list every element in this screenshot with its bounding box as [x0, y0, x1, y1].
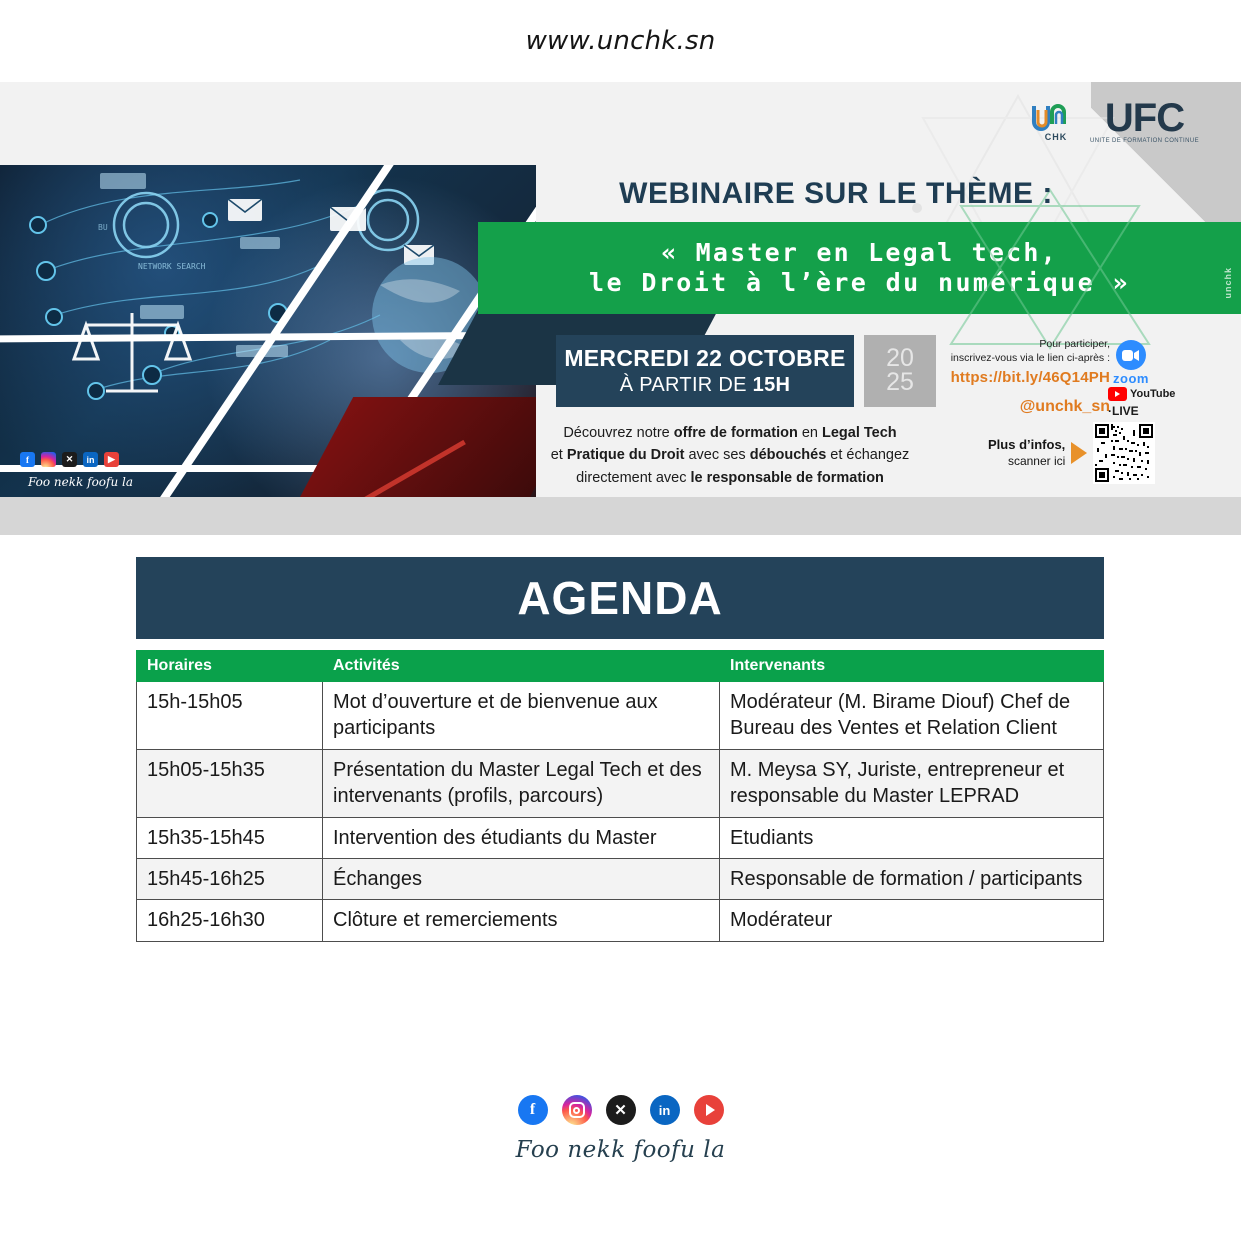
agenda-table: Horaires Activités Intervenants 15h-15h0…	[136, 650, 1104, 942]
registration-link[interactable]: https://bit.ly/46Q14PH	[930, 369, 1110, 386]
scales-of-justice-icon	[72, 305, 192, 400]
svg-text:BU: BU	[98, 223, 108, 232]
desc-3a: directement avec	[576, 470, 690, 486]
desc-1a: Découvrez notre	[563, 425, 673, 441]
x-twitter-icon: ✕	[62, 452, 77, 467]
zoom-badge: zoom	[1113, 340, 1149, 386]
agenda-header: AGENDA	[136, 557, 1104, 639]
ufc-logo-subtitle: UNITE DE FORMATION CONTINUE	[1090, 138, 1199, 144]
cell-horaires: 15h45-16h25	[137, 858, 323, 899]
facebook-icon: f	[20, 452, 35, 467]
desc-2e: et échangez	[826, 447, 909, 463]
participation-info: Pour participer, inscrivez-vous via le l…	[930, 337, 1110, 416]
instagram-glyph	[569, 1102, 585, 1118]
theme-line-1: « Master en Legal tech,	[661, 238, 1058, 269]
description-line-1: Découvrez notre offre de formation en Le…	[500, 422, 960, 444]
hero-tagline: Foo nekk foofu la	[28, 475, 133, 489]
cell-intervenants: Responsable de formation / participants	[720, 858, 1104, 899]
youtube-play-glyph	[706, 1104, 715, 1116]
event-time-value: 15H	[753, 374, 791, 396]
website-url: www.unchk.sn	[526, 26, 716, 56]
cell-horaires: 15h05-15h35	[137, 749, 323, 817]
social-handle[interactable]: @unchk_sn	[930, 398, 1110, 416]
column-header-intervenants: Intervenants	[720, 651, 1104, 682]
desc-2d: débouchés	[750, 447, 827, 463]
page-footer: f ✕ in Foo nekk foofu la	[0, 1095, 1241, 1163]
table-row: 15h-15h05 Mot d’ouverture et de bienvenu…	[137, 682, 1104, 750]
instagram-icon	[41, 452, 56, 467]
theme-line-2: le Droit à l’ère du numérique »	[589, 268, 1130, 299]
x-twitter-icon[interactable]: ✕	[606, 1095, 636, 1125]
qr-section: Plus d’infos, scanner ici	[988, 422, 1155, 484]
agenda-header-row: Horaires Activités Intervenants	[137, 651, 1104, 682]
table-row: 15h05-15h35 Présentation du Master Legal…	[137, 749, 1104, 817]
ufc-logo-text: UFC	[1105, 100, 1184, 136]
ufc-logo: UFC UNITE DE FORMATION CONTINUE	[1090, 100, 1199, 144]
description-line-3: directement avec le responsable de forma…	[500, 467, 960, 489]
cell-intervenants: Modérateur	[720, 900, 1104, 941]
vertical-unchk-mark: unchk	[1223, 267, 1233, 299]
banner-description: Découvrez notre offre de formation en Le…	[500, 422, 960, 489]
footer-tagline: Foo nekk foofu la	[0, 1137, 1241, 1163]
hero-social-icons: f ✕ in ▶	[20, 452, 119, 467]
facebook-icon[interactable]: f	[518, 1095, 548, 1125]
youtube-icon[interactable]	[694, 1095, 724, 1125]
top-url-bar: www.unchk.sn	[0, 0, 1241, 82]
qr-line-2: scanner ici	[988, 454, 1065, 469]
event-time: À PARTIR DE 15H	[620, 374, 790, 397]
cell-horaires: 15h35-15h45	[137, 817, 323, 858]
cell-horaires: 16h25-16h30	[137, 900, 323, 941]
instagram-icon[interactable]	[562, 1095, 592, 1125]
desc-1c: en	[798, 425, 822, 441]
cell-intervenants: Etudiants	[720, 817, 1104, 858]
column-header-horaires: Horaires	[137, 651, 323, 682]
linkedin-icon[interactable]: in	[650, 1095, 680, 1125]
desc-1d: Legal Tech	[822, 425, 897, 441]
linkedin-icon: in	[83, 452, 98, 467]
unchk-logo-sub: CHK	[1045, 132, 1068, 142]
footer-social-row: f ✕ in	[0, 1095, 1241, 1125]
description-line-2: et Pratique du Droit avec ses débouchés …	[500, 444, 960, 466]
youtube-live-badge: YouTube	[1108, 387, 1175, 401]
desc-3b: le responsable de formation	[691, 470, 884, 486]
unchk-logo-mark: CHK	[1028, 102, 1084, 142]
agenda-title: AGENDA	[517, 571, 722, 625]
table-row: 15h35-15h45 Intervention des étudiants d…	[137, 817, 1104, 858]
cell-activites: Présentation du Master Legal Tech et des…	[323, 749, 720, 817]
participate-line-1: Pour participer,	[930, 337, 1110, 351]
unchk-glyph-icon	[1028, 102, 1084, 136]
qr-code[interactable]	[1093, 422, 1155, 484]
cell-activites: Intervention des étudiants du Master	[323, 817, 720, 858]
youtube-brand: YouTube	[1130, 389, 1175, 400]
svg-text:NETWORK SEARCH: NETWORK SEARCH	[138, 262, 206, 271]
event-time-prefix: À PARTIR DE	[620, 374, 753, 396]
cell-activites: Échanges	[323, 858, 720, 899]
youtube-icon: ▶	[104, 452, 119, 467]
qr-code-graphic	[1095, 424, 1153, 482]
cell-activites: Clôture et remerciements	[323, 900, 720, 941]
theme-band: « Master en Legal tech, le Droit à l’ère…	[478, 222, 1241, 314]
desc-2a: et	[551, 447, 567, 463]
participate-line-2: inscrivez-vous via le lien ci-après :	[930, 351, 1110, 365]
orange-arrow-icon	[1071, 442, 1087, 464]
event-year-box: 20 25	[864, 335, 936, 407]
zoom-camera-icon	[1116, 340, 1146, 370]
qr-line-1: Plus d’infos,	[988, 437, 1065, 453]
desc-1b: offre de formation	[674, 425, 798, 441]
event-year-bottom: 25	[886, 371, 914, 395]
cell-intervenants: M. Meysa SY, Juriste, entrepreneur et re…	[720, 749, 1104, 817]
zoom-label: zoom	[1113, 371, 1149, 386]
cell-intervenants: Modérateur (M. Birame Diouf) Chef de Bur…	[720, 682, 1104, 750]
desc-2c: avec ses	[684, 447, 749, 463]
banner-headline: WEBINAIRE SUR LE THÈME :	[556, 177, 1116, 211]
table-row: 16h25-16h30 Clôture et remerciements Mod…	[137, 900, 1104, 941]
qr-caption: Plus d’infos, scanner ici	[988, 437, 1065, 468]
cell-activites: Mot d’ouverture et de bienvenue aux part…	[323, 682, 720, 750]
desc-2b: Pratique du Droit	[567, 447, 685, 463]
event-date-box: MERCREDI 22 OCTOBRE À PARTIR DE 15H	[556, 335, 854, 407]
column-header-activites: Activités	[323, 651, 720, 682]
youtube-live-label: ·LIVE	[1108, 404, 1139, 418]
youtube-play-icon	[1108, 387, 1127, 401]
banner-bottom-strip	[0, 497, 1241, 535]
event-banner: NETWORK SEARCH BU f ✕ in ▶ Foo nekk foof…	[0, 82, 1241, 535]
event-date: MERCREDI 22 OCTOBRE	[564, 345, 845, 372]
unchk-ufc-logo: CHK UFC UNITE DE FORMATION CONTINUE	[1028, 100, 1199, 144]
cell-horaires: 15h-15h05	[137, 682, 323, 750]
table-row: 15h45-16h25 Échanges Responsable de form…	[137, 858, 1104, 899]
hero-collage-image: NETWORK SEARCH BU f ✕ in ▶ Foo nekk foof…	[0, 165, 536, 497]
